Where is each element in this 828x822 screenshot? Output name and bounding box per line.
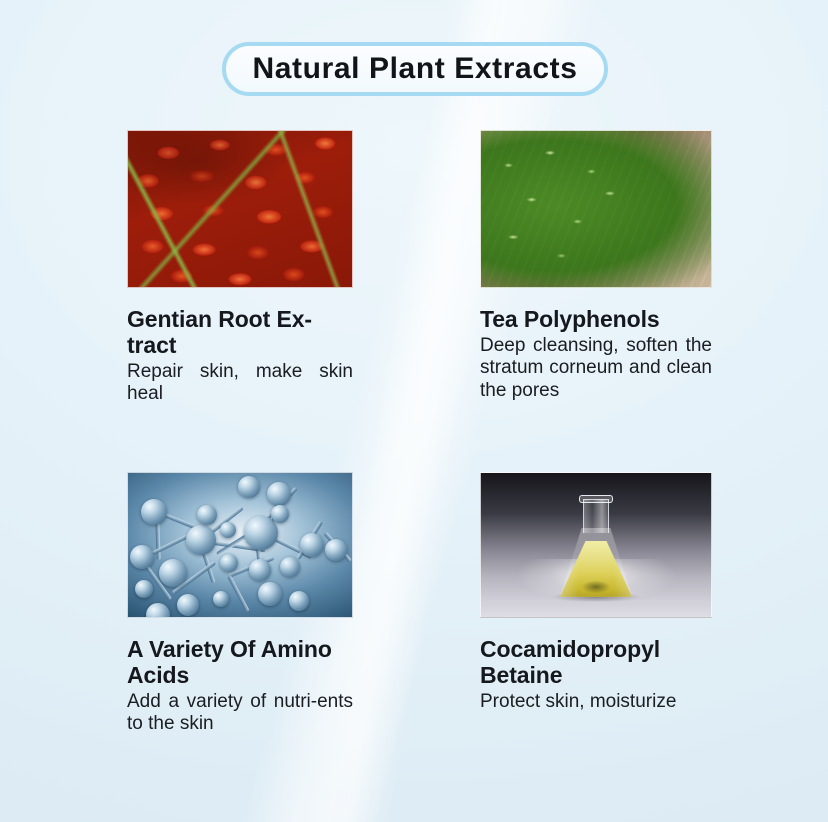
green-tea-leaves-photo: [480, 130, 712, 288]
card-description: Repair skin, make skin heal: [127, 361, 353, 406]
card-heading: Cocamidopropyl Betaine: [480, 636, 712, 688]
card-heading: Gentian Root Ex-tract: [127, 306, 353, 358]
flask-neck: [583, 499, 609, 533]
molecular-structure-photo: [127, 472, 353, 618]
card-description: Deep cleansing, soften the stratum corne…: [480, 335, 712, 402]
page-title: Natural Plant Extracts: [253, 52, 578, 86]
card-heading: Tea Polyphenols: [480, 306, 712, 332]
ingredient-card-cocamidopropyl-betaine: Cocamidopropyl Betaine Protect skin, moi…: [480, 472, 712, 713]
card-heading: A Variety Of Amino Acids: [127, 636, 353, 688]
ingredient-card-tea-polyphenols: Tea Polyphenols Deep cleansing, soften t…: [480, 130, 712, 402]
card-description: Add a variety of nutri-ents to the skin: [127, 691, 353, 736]
ingredient-card-amino-acids: A Variety Of Amino Acids Add a variety o…: [127, 472, 353, 736]
laboratory-flask-photo: [480, 472, 712, 618]
erlenmeyer-flask: [560, 499, 632, 597]
infographic-page: Natural Plant Extracts Gentian Root Ex-t…: [0, 0, 828, 822]
goji-berries-photo: [127, 130, 353, 288]
card-description: Protect skin, moisturize: [480, 691, 712, 713]
ingredient-card-gentian-root-extract: Gentian Root Ex-tract Repair skin, make …: [127, 130, 353, 406]
page-title-pill: Natural Plant Extracts: [222, 42, 608, 96]
flask-lip: [579, 495, 613, 503]
molecule-atoms: [128, 473, 352, 617]
